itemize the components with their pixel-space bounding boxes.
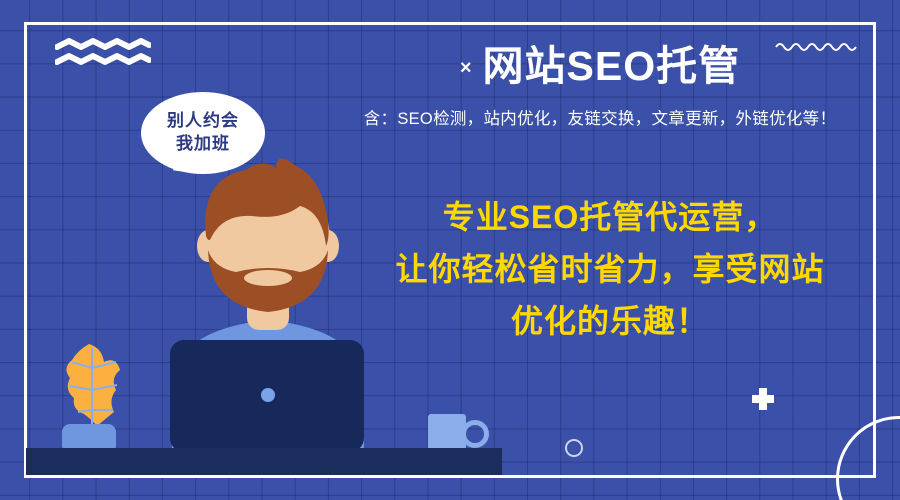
desk-surface — [26, 448, 502, 475]
speech-bubble-line2: 我加班 — [176, 133, 230, 156]
plant-pot — [62, 424, 116, 450]
desk-left-edge — [26, 448, 36, 475]
speech-bubble: 别人约会 我加班 — [141, 92, 265, 174]
seo-hosting-banner: 别人约会 我加班 ×网站SEO托管 含：SEO检测，站内优化，友链交换，文章更新… — [0, 0, 900, 500]
mouth-shape — [244, 270, 292, 286]
laptop-logo-dot — [261, 388, 275, 402]
mug-body — [428, 414, 466, 452]
speech-bubble-line1: 别人约会 — [167, 110, 239, 133]
